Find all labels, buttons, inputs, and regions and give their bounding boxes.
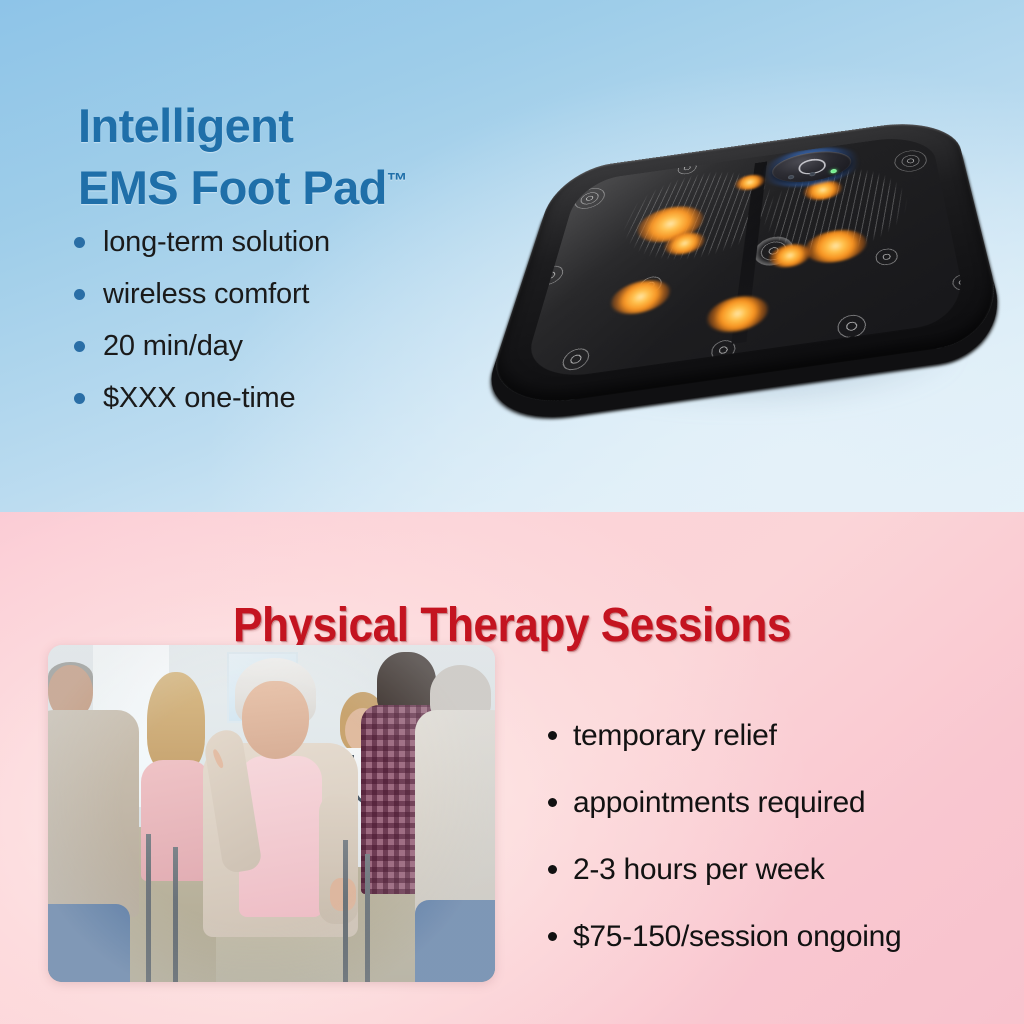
product-title-line2: EMS Foot Pad	[78, 161, 387, 214]
list-item-label: $XXX one-time	[103, 382, 295, 415]
waiting-room-photo	[48, 645, 495, 982]
list-item-label: wireless comfort	[103, 278, 309, 311]
bullet-dot-icon	[548, 932, 557, 941]
trademark-symbol: ™	[387, 169, 408, 192]
list-item-label: 2-3 hours per week	[573, 853, 824, 887]
list-item: 2-3 hours per week	[548, 836, 901, 903]
photo-scene	[48, 645, 495, 982]
list-item: wireless comfort	[74, 268, 330, 320]
list-item-label: $75-150/session ongoing	[573, 920, 901, 954]
bullet-dot-icon	[548, 798, 557, 807]
list-item: $75-150/session ongoing	[548, 903, 901, 970]
ems-benefits-list: long-term solution wireless comfort 20 m…	[74, 216, 330, 424]
list-item: temporary relief	[548, 702, 901, 769]
bullet-dot-icon	[548, 731, 557, 740]
list-item: long-term solution	[74, 216, 330, 268]
led-indicator-active-icon	[831, 168, 837, 173]
bullet-dot-icon	[74, 393, 85, 404]
physical-therapy-section: Physical Therapy Sessions	[0, 512, 1024, 1024]
ems-foot-pad-section: IntelligentEMS Foot Pad™ long-term solut…	[0, 0, 1024, 512]
bullet-dot-icon	[74, 237, 85, 248]
photo-vignette	[48, 645, 495, 982]
list-item-label: long-term solution	[103, 226, 330, 259]
ems-foot-pad-device	[492, 52, 1012, 472]
list-item: 20 min/day	[74, 320, 330, 372]
page-title: IntelligentEMS Foot Pad™	[78, 95, 408, 217]
list-item-label: appointments required	[573, 786, 865, 820]
physical-therapy-drawbacks-list: temporary relief appointments required 2…	[548, 702, 901, 970]
led-indicator-icon	[809, 171, 815, 176]
led-indicator-icon	[788, 174, 794, 179]
list-item: appointments required	[548, 769, 901, 836]
bullet-dot-icon	[74, 289, 85, 300]
list-item-label: 20 min/day	[103, 330, 243, 363]
comparison-poster: IntelligentEMS Foot Pad™ long-term solut…	[0, 0, 1024, 1024]
product-title-line1: Intelligent	[78, 99, 293, 152]
bullet-dot-icon	[74, 341, 85, 352]
list-item: $XXX one-time	[74, 372, 330, 424]
bullet-dot-icon	[548, 865, 557, 874]
list-item-label: temporary relief	[573, 719, 777, 753]
